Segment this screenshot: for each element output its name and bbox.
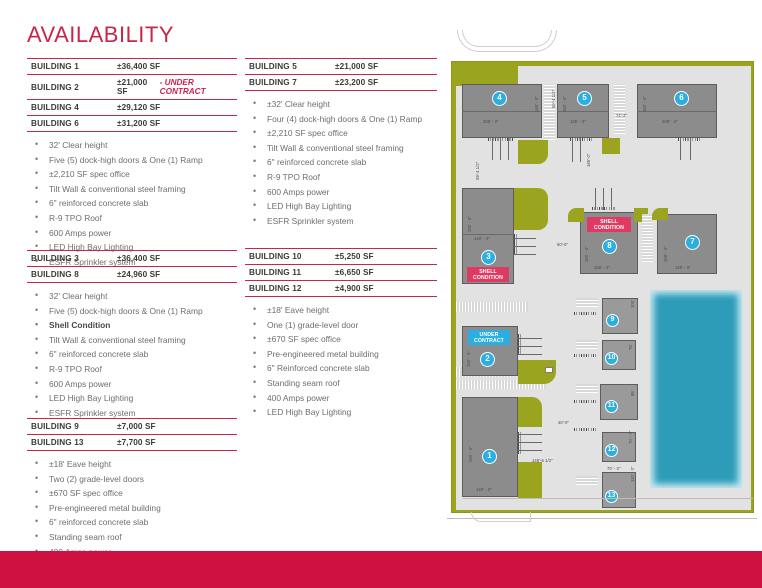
building-size: ±23,200 SF xyxy=(335,78,378,87)
list-item: Shell Condition xyxy=(27,318,237,333)
building-name: BUILDING 11 xyxy=(249,268,335,277)
landscape-island-left-top xyxy=(456,66,518,86)
dim-b11-height: 95' xyxy=(630,390,635,396)
feature-list: ±18' Eave height One (1) grade-level doo… xyxy=(245,303,437,420)
dim-b10-height: 75' xyxy=(628,344,633,350)
building-size: ±5,250 SF xyxy=(335,252,374,261)
building-size: ±29,120 SF xyxy=(117,103,160,112)
building-size: ±31,200 SF xyxy=(117,119,160,128)
dim-b13-height: 110' - 0" xyxy=(630,466,635,482)
landscape-island-c xyxy=(514,188,548,230)
list-item: ±2,210 SF spec office xyxy=(27,167,237,182)
bldg8-ramp-a xyxy=(595,188,596,210)
bldg5-dock-doors xyxy=(570,138,592,141)
list-item: 600 Amps power xyxy=(27,377,237,392)
landscape-island-a xyxy=(518,140,548,164)
tag-shell-condition-8: SHELL CONDITION xyxy=(587,217,631,232)
building-table: BUILDING 10 ±5,250 SF BUILDING 11 ±6,650… xyxy=(245,248,437,297)
building-table: BUILDING 3 ±36,400 SF BUILDING 8 ±24,960… xyxy=(27,250,237,283)
dim-b9-height: 100' xyxy=(630,300,635,308)
table-row[interactable]: BUILDING 11 ±6,650 SF xyxy=(245,265,437,281)
dim-b5-height: 150' - 0" xyxy=(562,96,567,112)
list-item: 32' Clear height xyxy=(27,138,237,153)
list-item: ±2,210 SF spec office xyxy=(245,126,437,141)
page-title: AVAILABILITY xyxy=(27,22,174,48)
building-size: ±7,700 SF xyxy=(117,438,156,447)
building-size: ±6,650 SF xyxy=(335,268,374,277)
list-item: LED High Bay Lighting xyxy=(245,405,437,420)
building-name: BUILDING 12 xyxy=(249,284,335,293)
bldg8-ramp-c xyxy=(611,188,612,210)
table-row[interactable]: BUILDING 4 ±29,120 SF xyxy=(27,100,237,116)
list-item: LED High Bay Lighting xyxy=(27,391,237,406)
road-edge-b xyxy=(463,498,753,499)
marker-6[interactable]: 6 xyxy=(674,91,689,106)
building-size: ±21,000 SF xyxy=(117,78,158,96)
marker-12[interactable]: 12 xyxy=(605,444,618,457)
building-table: BUILDING 9 ±7,000 SF BUILDING 13 ±7,700 … xyxy=(27,418,237,451)
list-item: Tilt Wall & conventional steel framing xyxy=(27,333,237,348)
bldg6-ramp-b xyxy=(690,138,691,160)
bldg6-ramp-a xyxy=(680,138,681,160)
table-row[interactable]: BUILDING 10 ±5,250 SF xyxy=(245,248,437,265)
parking-13 xyxy=(576,476,598,485)
list-item: 32' Clear height xyxy=(27,289,237,304)
bldg4-ramp-c xyxy=(508,138,509,160)
list-item: Pre-engineered metal building xyxy=(245,347,437,362)
list-item: ESFR Sprinkler system xyxy=(245,214,437,229)
parking-strip-upper-b xyxy=(614,84,625,134)
bldg10-dock xyxy=(574,354,596,357)
bldg1-ramp-a xyxy=(518,434,542,435)
dim-b3-width: 140' - 0" xyxy=(474,236,490,241)
parking-11 xyxy=(576,384,598,393)
list-item: 6" reinforced concrete slab xyxy=(27,347,237,362)
building-name: BUILDING 7 xyxy=(249,78,335,87)
dim-b8-height: 160' - 0" xyxy=(584,246,589,262)
dim-b6-width: 208' - 0" xyxy=(662,119,678,124)
dim-b6-height: 160' - 0" xyxy=(642,96,647,112)
feature-list: 32' Clear height Five (5) dock-high door… xyxy=(27,289,237,420)
marker-10[interactable]: 10 xyxy=(605,352,618,365)
feature-list: ±32' Clear height Four (4) dock-high doo… xyxy=(245,97,437,228)
list-item: 600 Amps power xyxy=(245,185,437,200)
bldg3-ramp-b xyxy=(514,246,536,247)
building-table: BUILDING 1 ±36,400 SF BUILDING 2 ±21,000… xyxy=(27,58,237,132)
list-item: 6" Reinforced concrete slab xyxy=(245,361,437,376)
table-row[interactable]: BUILDING 2 ±21,000 SF - UNDER CONTRACT xyxy=(27,75,237,100)
list-item: Tilt Wall & conventional steel framing xyxy=(27,182,237,197)
building-size: ±4,900 SF xyxy=(335,284,374,293)
building-size: ±36,400 SF xyxy=(117,62,160,71)
bldg3-ramp-c xyxy=(514,254,536,255)
landscape-island-i xyxy=(518,462,542,498)
bldg2-ramp-a xyxy=(518,338,542,339)
spec-block-buildings-5-7: BUILDING 5 ±21,000 SF BUILDING 7 ±23,200… xyxy=(245,58,437,228)
dim-drive-c: 40'-0" xyxy=(558,420,569,425)
landscape-island-f xyxy=(652,208,668,220)
marker-1[interactable]: 1 xyxy=(482,449,497,464)
list-item: Five (5) dock-high doors & One (1) Ramp xyxy=(27,153,237,168)
pump-house-footprint xyxy=(545,367,553,373)
marker-11[interactable]: 11 xyxy=(605,400,618,413)
building-name: BUILDING 4 xyxy=(31,103,117,112)
building-size: ±24,960 SF xyxy=(117,270,160,279)
dim-b5-width: 135' - 0" xyxy=(570,119,586,124)
dim-drive-e: 59'-4 1/2" xyxy=(475,162,480,180)
bldg4-ramp-a xyxy=(492,138,493,160)
bldg2-ramp-b xyxy=(518,346,542,347)
bldg12-dock xyxy=(574,428,596,431)
table-row[interactable]: BUILDING 7 ±23,200 SF xyxy=(245,75,437,91)
building-name: BUILDING 8 xyxy=(31,270,117,279)
spec-block-buildings-10-11-12: BUILDING 10 ±5,250 SF BUILDING 11 ±6,650… xyxy=(245,248,437,420)
building-name: BUILDING 3 xyxy=(31,254,117,263)
dim-drive-a: 50'-4 1/2" xyxy=(551,90,556,108)
dim-b13-width: 70' - 0" xyxy=(607,466,621,471)
bldg4-divider xyxy=(462,111,542,112)
bldg3-ramp-a xyxy=(514,238,536,239)
bldg1-ramp-b xyxy=(518,442,542,443)
bldg9-dock xyxy=(574,312,596,315)
dim-b12-height: 70' - 0" xyxy=(628,430,633,444)
table-row[interactable]: BUILDING 12 ±4,900 SF xyxy=(245,281,437,297)
building-name: BUILDING 9 xyxy=(31,422,117,431)
dim-b4-width: 208' - 0" xyxy=(483,119,499,124)
tag-line-2: CONTRACT xyxy=(470,338,508,344)
list-item: ±18' Eave height xyxy=(245,303,437,318)
parking-9 xyxy=(576,298,598,307)
building-size: ±7,000 SF xyxy=(117,422,156,431)
dim-b3-height: 260' - 0" xyxy=(467,216,472,232)
site-plan[interactable]: 4 208' - 0" 140' - 0" 5 135' - 0" 150' -… xyxy=(443,28,762,523)
list-item: LED High Bay Lighting xyxy=(245,199,437,214)
building-name: BUILDING 13 xyxy=(31,438,117,447)
parking-strip-mid xyxy=(642,214,653,262)
table-row[interactable]: BUILDING 3 ±36,400 SF xyxy=(27,250,237,267)
building-name: BUILDING 2 xyxy=(31,83,117,92)
bldg2-ramp-c xyxy=(518,354,542,355)
marker-5[interactable]: 5 xyxy=(577,91,592,106)
table-row[interactable]: BUILDING 5 ±21,000 SF xyxy=(245,58,437,75)
building-size: ±36,400 SF xyxy=(117,254,160,263)
list-item: R-9 TPO Roof xyxy=(27,211,237,226)
dim-b1-width: 140' - 0" xyxy=(476,487,492,492)
bldg5-ramp-a xyxy=(572,138,573,162)
dim-drive-f: 74'-2" xyxy=(616,113,627,118)
list-item: ±670 SF spec office xyxy=(27,486,237,501)
list-item: 6" reinforced concrete slab xyxy=(27,196,237,211)
building-name: BUILDING 6 xyxy=(31,119,117,128)
list-item: One (1) grade-level door xyxy=(245,318,437,333)
parking-10 xyxy=(576,340,598,349)
spec-block-buildings-1-2-4-6: BUILDING 1 ±36,400 SF BUILDING 2 ±21,000… xyxy=(27,58,237,269)
bldg6-divider xyxy=(637,111,717,112)
dim-b7-width: 145' - 0" xyxy=(675,265,691,270)
list-item: 6" reinforced concrete slab xyxy=(245,155,437,170)
bldg3-divider xyxy=(462,234,514,235)
road-curve-bottom xyxy=(471,512,531,522)
building-name: BUILDING 10 xyxy=(249,252,335,261)
list-item: Standing seam roof xyxy=(245,376,437,391)
detention-pond xyxy=(650,290,742,488)
table-row[interactable]: BUILDING 9 ±7,000 SF xyxy=(27,418,237,435)
marker-9[interactable]: 9 xyxy=(606,314,619,327)
list-item: Standing seam roof xyxy=(27,530,237,545)
bldg4-ramp-b xyxy=(500,138,501,160)
building-size: ±21,000 SF xyxy=(335,62,378,71)
status-badge: - UNDER CONTRACT xyxy=(160,78,237,96)
tag-line-2: CONDITION xyxy=(469,275,507,281)
bldg6-dock-doors xyxy=(678,138,700,141)
dim-b8-width: 156' - 0" xyxy=(594,265,610,270)
bldg2-dock-doors xyxy=(518,334,521,354)
landscape-island-d xyxy=(568,208,584,222)
dim-b2-height: 150' - 0" xyxy=(466,351,471,367)
list-item: Pre-engineered metal building xyxy=(27,501,237,516)
drive-aisle-left xyxy=(456,312,548,320)
bldg11-dock xyxy=(574,400,596,403)
plan-frame: 4 208' - 0" 140' - 0" 5 135' - 0" 150' -… xyxy=(451,61,754,513)
marker-13[interactable]: 13 xyxy=(605,490,618,503)
bldg3-dock-doors xyxy=(514,234,517,254)
list-item: Five (5) dock-high doors & One (1) Ramp xyxy=(27,304,237,319)
dim-b1-height: 260' - 0" xyxy=(468,446,473,462)
building-name: BUILDING 1 xyxy=(31,62,117,71)
list-item: Four (4) dock-high doors & One (1) Ramp xyxy=(245,112,437,127)
table-row[interactable]: BUILDING 6 ±31,200 SF xyxy=(27,116,237,132)
spec-block-buildings-3-8: BUILDING 3 ±36,400 SF BUILDING 8 ±24,960… xyxy=(27,250,237,420)
landscape-island-h xyxy=(518,397,542,427)
marker-8[interactable]: 8 xyxy=(602,239,617,254)
bldg8-ramp-b xyxy=(603,188,604,210)
dim-drive-b: 60'-0" xyxy=(557,242,568,247)
bldg1-ramp-c xyxy=(518,450,542,451)
dim-drive-main: 185'-0" xyxy=(586,154,591,167)
bldg5-ramp-b xyxy=(580,138,581,162)
list-item: 400 Amps power xyxy=(245,391,437,406)
list-item: Tilt Wall & conventional steel framing xyxy=(245,141,437,156)
list-item: ±670 SF spec office xyxy=(245,332,437,347)
building-name: BUILDING 5 xyxy=(249,62,335,71)
parking-lot-a xyxy=(456,302,528,312)
dim-b7-height: 160' - 0" xyxy=(663,246,668,262)
list-item: R-9 TPO Roof xyxy=(27,362,237,377)
list-item: R-9 TPO Roof xyxy=(245,170,437,185)
marker-4[interactable]: 4 xyxy=(492,91,507,106)
table-row[interactable]: BUILDING 13 ±7,700 SF xyxy=(27,435,237,451)
tag-shell-condition-3: SHELL CONDITION xyxy=(467,267,509,282)
table-row[interactable]: BUILDING 8 ±24,960 SF xyxy=(27,267,237,283)
list-item: 600 Amps power xyxy=(27,226,237,241)
list-item: ±18' Eave height xyxy=(27,457,237,472)
tag-line-2: CONDITION xyxy=(589,225,629,231)
marker-2[interactable]: 2 xyxy=(480,352,495,367)
list-item: Two (2) grade-level doors xyxy=(27,472,237,487)
building-table: BUILDING 5 ±21,000 SF BUILDING 7 ±23,200… xyxy=(245,58,437,91)
landscape-island-b xyxy=(602,138,620,154)
marker-3[interactable]: 3 xyxy=(481,250,496,265)
tag-under-contract: UNDER CONTRACT xyxy=(468,330,510,345)
marker-7[interactable]: 7 xyxy=(685,235,700,250)
table-row[interactable]: BUILDING 1 ±36,400 SF xyxy=(27,58,237,75)
list-item: ±32' Clear height xyxy=(245,97,437,112)
dim-b4-height: 140' - 0" xyxy=(534,96,539,112)
list-item: 6" reinforced concrete slab xyxy=(27,515,237,530)
footer-bar xyxy=(0,551,762,588)
road-curve-top-inner xyxy=(462,30,552,47)
